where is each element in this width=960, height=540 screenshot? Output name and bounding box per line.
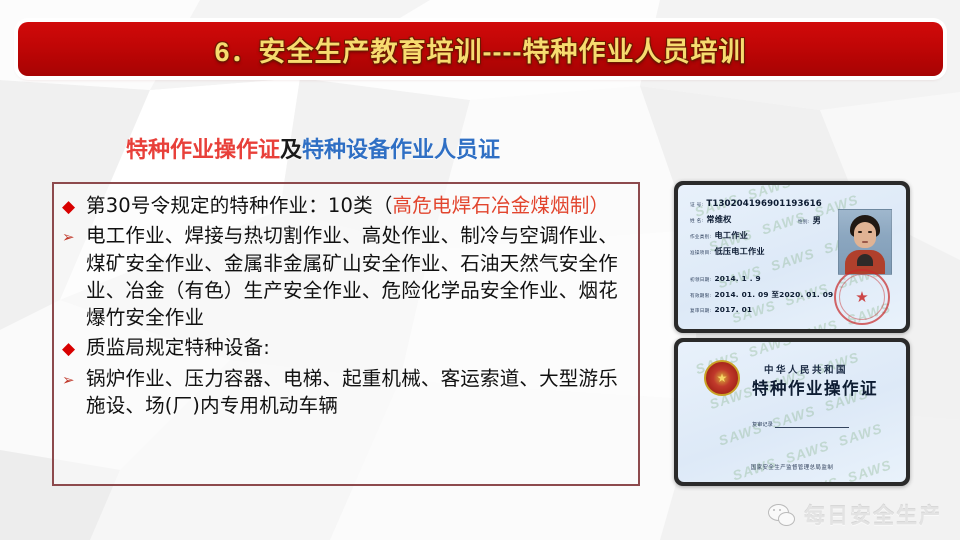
bullet-block-3: ◆ 质监局规定特种设备: (62, 334, 628, 361)
diamond-bullet-icon: ◆ (62, 334, 86, 361)
cert-field-name: 姓 名: 常维权 (690, 213, 732, 225)
review-record-label: 复审记录 (752, 421, 773, 428)
cert-label-gender: 性别: (798, 219, 810, 225)
cert-value-validity: 2014. 01. 09 至2020. 01. 09 (714, 289, 833, 300)
footer-brand-name: 每日安全生产 (804, 500, 942, 530)
cert-field-issue-date: 初领日期: 2014. 1 . 9 (690, 274, 761, 283)
certificate-back-face: SAWS SAWS SAWS SAWS SAWS SAWS SAWS SAWS … (678, 342, 906, 482)
cert-field-worktype: 作业类别: 电工作业 (690, 229, 748, 241)
cert-label-issue-date: 初领日期: (690, 277, 711, 283)
arrow-bullet-icon: ➢ (62, 365, 86, 391)
cert-value-item: 低压电工作业 (714, 245, 764, 257)
slide-title-banner: 6．安全生产教育培训----特种作业人员培训 (18, 22, 943, 76)
review-record-line (775, 420, 849, 428)
cert-field-item: 准操项目: 低压电工作业 (690, 245, 765, 257)
wechat-bubble-small (778, 512, 795, 526)
certificate-front-image: SAWS SAWS SAWS SAWS SAWS SAWS SAWS SAWS … (674, 181, 910, 333)
certificate-review-record: 复审记录 (752, 420, 849, 428)
subtitle-part-black: 及 (280, 137, 302, 162)
cert-label-number: 证 号: (690, 202, 703, 208)
slide-root: 6．安全生产教育培训----特种作业人员培训 特种作业操作证及特种设备作业人员证… (0, 0, 960, 540)
bullet-text-3: 质监局规定特种设备: (86, 334, 628, 361)
national-emblem-icon: ★ (704, 360, 740, 396)
cert-label-validity: 有效期限: (690, 293, 711, 299)
portrait-collar (857, 254, 873, 266)
content-box: ◆ 第30号令规定的特种作业：10类（高危电焊石冶金煤烟制） ➢ 电工作业、焊接… (52, 182, 640, 486)
wechat-icon (768, 504, 795, 526)
bullet-block-2: ➢ 电工作业、焊接与热切割作业、高处作业、制冷与空调作业、煤矿安全作业、金属非金… (62, 222, 628, 331)
cert-label-name: 姓 名: (690, 218, 703, 224)
cert-value-gender: 男 (813, 214, 821, 226)
bullet-text-2: 电工作业、焊接与热切割作业、高处作业、制冷与空调作业、煤矿安全作业、金属非金属矿… (86, 222, 628, 331)
cert-value-name: 常维权 (706, 213, 731, 225)
subtitle-part-blue: 特种设备作业人员证 (302, 137, 500, 162)
certificate-nation-line: 中华人民共和国 (764, 362, 848, 376)
cert-label-item: 准操项目: (690, 250, 711, 256)
subtitle-part-red: 特种作业操作证 (126, 137, 280, 162)
certificate-back-title: 特种作业操作证 (752, 375, 878, 399)
certificate-back-image: SAWS SAWS SAWS SAWS SAWS SAWS SAWS SAWS … (674, 338, 910, 486)
bullet-text-1-lead: 第30号令规定的特种作业：10类（ (86, 194, 393, 217)
bullet-text-1-highlight: 高危电焊石冶金煤烟制 (393, 194, 590, 217)
bullet-block-1: ◆ 第30号令规定的特种作业：10类（高危电焊石冶金煤烟制） (62, 192, 628, 219)
cert-value-issue-date: 2014. 1 . 9 (714, 274, 760, 283)
cert-field-validity: 有效期限: 2014. 01. 09 至2020. 01. 09 (690, 289, 833, 300)
bullet-text-1-tail: ） (590, 194, 610, 217)
portrait-eye-left (858, 231, 862, 233)
cert-field-number: 证 号: T130204196901193616 (690, 199, 822, 209)
diamond-bullet-icon: ◆ (62, 192, 86, 219)
certificate-front-face: SAWS SAWS SAWS SAWS SAWS SAWS SAWS SAWS … (678, 185, 906, 329)
cert-value-worktype: 电工作业 (714, 229, 748, 241)
certificate-issuer-footer: 国家安全生产监督管理总局监制 (678, 463, 906, 471)
cert-field-review-date: 复审日期: 2017. 01 (690, 305, 752, 314)
portrait-mouth (862, 241, 868, 243)
cert-field-gender: 性别: 男 (798, 214, 821, 226)
portrait-eye-right (868, 231, 872, 233)
footer-brand: 每日安全生产 (768, 500, 942, 530)
page-title: 6．安全生产教育培训----特种作业人员培训 (215, 30, 747, 69)
arrow-bullet-icon: ➢ (62, 222, 86, 248)
bullet-text-1: 第30号令规定的特种作业：10类（高危电焊石冶金煤烟制） (86, 192, 628, 219)
bullet-text-4: 锅炉作业、压力容器、电梯、起重机械、客运索道、大型游乐施设、场(厂)内专用机动车… (86, 365, 628, 420)
cert-value-review-date: 2017. 01 (714, 305, 752, 314)
certificate-portrait-photo (838, 209, 892, 275)
portrait-face (854, 222, 876, 248)
cert-value-number: T130204196901193616 (706, 199, 821, 209)
subtitle: 特种作业操作证及特种设备作业人员证 (126, 132, 500, 164)
cert-label-worktype: 作业类别: (690, 234, 711, 240)
cert-label-review-date: 复审日期: (690, 308, 711, 314)
bullet-block-4: ➢ 锅炉作业、压力容器、电梯、起重机械、客运索道、大型游乐施设、场(厂)内专用机… (62, 365, 628, 420)
seal-ring (839, 274, 885, 320)
official-seal-stamp: ★ (834, 269, 890, 325)
